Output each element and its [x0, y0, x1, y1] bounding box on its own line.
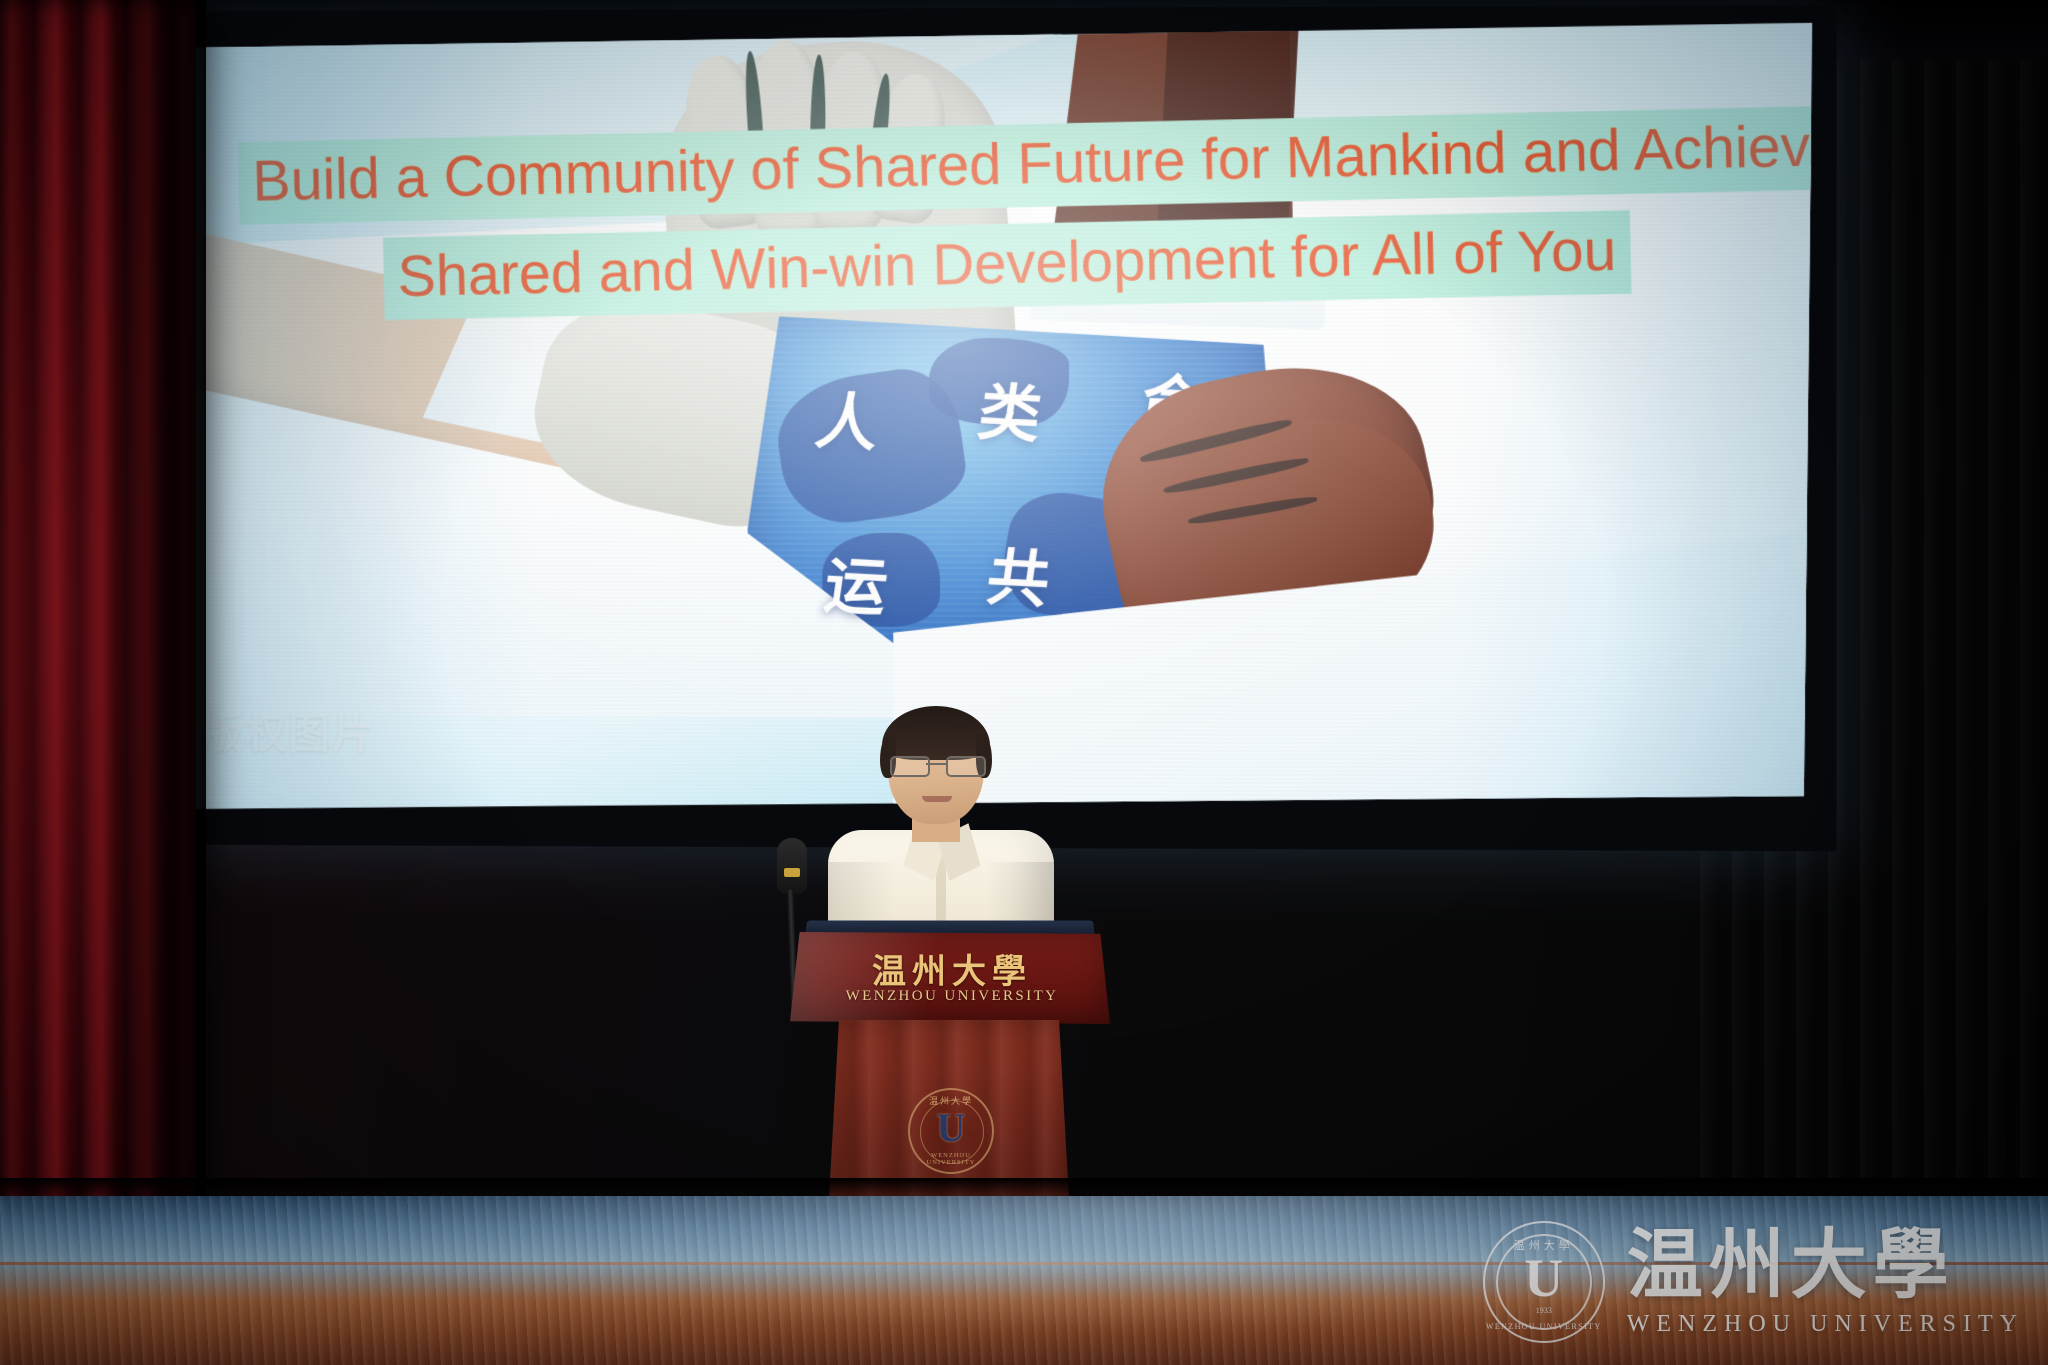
glasses-lens [890, 756, 930, 777]
glasses-bridge [926, 763, 946, 765]
speaker-mouth [922, 796, 952, 802]
stage-photo: 人 类 命 运 共 同 版权图片 Build a Community of Sh… [0, 0, 2048, 1365]
emblem-english-text: WENZHOU UNIVERSITY [910, 1152, 992, 1166]
podium-name-english: WENZHOU UNIVERSITY [842, 988, 1062, 1005]
slide-title-line-2: Shared and Win-win Development for All o… [383, 210, 1631, 320]
university-emblem-icon: 温州大學 U WENZHOU UNIVERSITY [908, 1088, 994, 1174]
curtain-shadow [96, 0, 206, 1365]
seal-monogram: U [1485, 1251, 1603, 1305]
glasses-lens [946, 756, 986, 777]
speaker-eye [900, 718, 911, 723]
slide-title-block: Build a Community of Shared Future for M… [182, 23, 1812, 815]
seal-english-text: WENZHOU UNIVERSITY [1485, 1322, 1603, 1331]
red-stage-curtain [0, 0, 196, 1365]
podium-name-chinese: 温州大學 [842, 944, 1062, 993]
watermark-text-block: 温州大學 WENZHOU UNIVERSITY [1627, 1227, 2024, 1338]
slide-title-line-1: Build a Community of Shared Future for M… [238, 105, 1812, 225]
microphone-icon [777, 838, 807, 894]
seal-year: 1933 [1485, 1306, 1603, 1315]
watermark-english: WENZHOU UNIVERSITY [1627, 1311, 2024, 1338]
speaker-hair [882, 706, 990, 760]
microphone-clip [784, 868, 800, 877]
eyeglasses-icon [890, 756, 984, 773]
projection-screen: 人 类 命 运 共 同 版权图片 Build a Community of Sh… [182, 23, 1812, 815]
university-seal-icon: 温州大學 U 1933 WENZHOU UNIVERSITY [1483, 1221, 1605, 1343]
emblem-monogram: U [910, 1104, 992, 1151]
wenzhou-university-watermark: 温州大學 U 1933 WENZHOU UNIVERSITY 温州大學 WENZ… [1483, 1217, 2024, 1347]
watermark-chinese: 温州大學 [1627, 1227, 2024, 1303]
speaker-eye [956, 718, 967, 723]
